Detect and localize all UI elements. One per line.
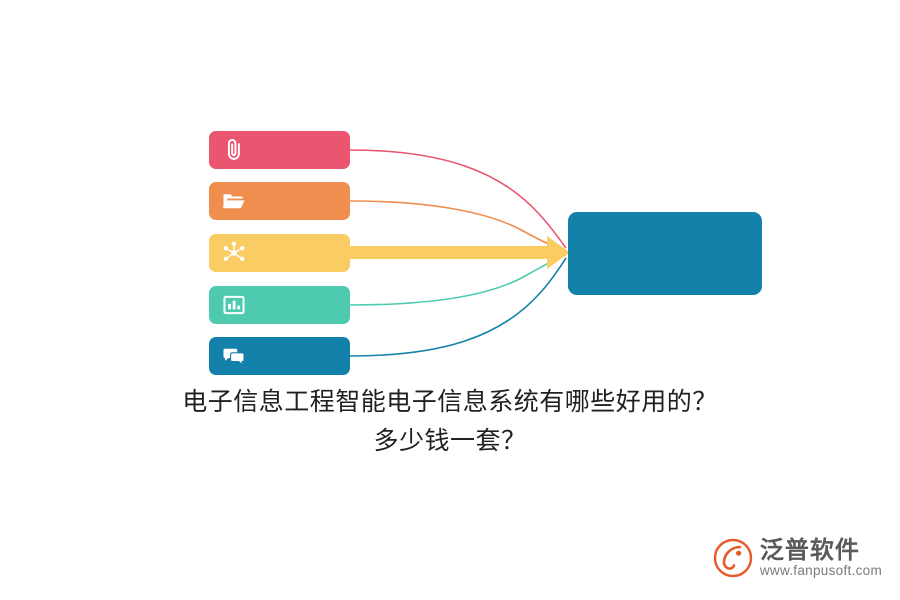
node-attachment[interactable] — [209, 131, 350, 169]
diagram-canvas — [0, 0, 900, 600]
connector-chart — [350, 255, 566, 305]
brand-url: www.fanpusoft.com — [760, 563, 882, 579]
watermark-text: 泛普软件 www.fanpusoft.com — [760, 537, 882, 579]
page-root: 电子信息工程智能电子信息系统有哪些好用的？ 多少钱一套？ 泛普软件 www.fa… — [0, 0, 900, 600]
connector-attachment — [350, 150, 566, 248]
node-network[interactable] — [209, 234, 350, 272]
node-chart[interactable] — [209, 286, 350, 324]
node-folder[interactable] — [209, 182, 350, 220]
page-title: 电子信息工程智能电子信息系统有哪些好用的？ 多少钱一套？ — [0, 382, 900, 460]
node-chat[interactable] — [209, 337, 350, 375]
watermark: 泛普软件 www.fanpusoft.com — [713, 530, 882, 586]
connector-chat — [350, 258, 566, 356]
network-icon — [221, 240, 247, 266]
brand-logo-icon — [713, 538, 753, 578]
paperclip-icon — [221, 137, 247, 163]
caption-line-1: 电子信息工程智能电子信息系统有哪些好用的？ — [0, 382, 900, 421]
node-target[interactable] — [568, 212, 762, 295]
chart-icon — [221, 292, 247, 318]
caption-line-2: 多少钱一套？ — [0, 421, 900, 460]
brand-name: 泛普软件 — [760, 537, 882, 563]
connector-network-arrow — [350, 236, 570, 269]
chat-icon — [221, 343, 247, 369]
folder-icon — [221, 188, 247, 214]
